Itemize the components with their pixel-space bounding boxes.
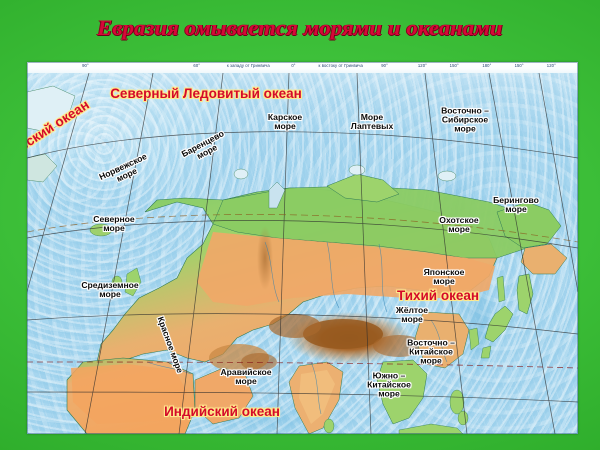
longitude-tick-label: 90°: [82, 63, 89, 68]
map-image: 90°60°к западу от Гринвича0°к востоку от…: [27, 62, 578, 434]
longitude-tick-label: к западу от Гринвича: [227, 63, 270, 68]
slide-canvas: Евразия омывается морями и океанами: [0, 0, 600, 450]
longitude-tick-label: 90°: [381, 63, 388, 68]
longitude-tick-label: 0°: [291, 63, 295, 68]
longitude-tick-label: 150°: [450, 63, 459, 68]
longitude-tick-label: 60°: [193, 63, 200, 68]
longitude-tick-label: 180°: [482, 63, 491, 68]
longitude-tick-label: к востоку от Гринвича: [319, 63, 363, 68]
longitude-tick-label: 120°: [418, 63, 427, 68]
longitude-axis-strip: 90°60°к западу от Гринвича0°к востоку от…: [27, 62, 578, 73]
longitude-tick-label: 150°: [515, 63, 524, 68]
slide-title-bar: Евразия омывается морями и океанами: [0, 0, 600, 56]
longitude-tick-label: 120°: [547, 63, 556, 68]
page-title: Евразия омывается морями и океанами: [97, 15, 503, 41]
graticule-layer: [27, 62, 578, 434]
